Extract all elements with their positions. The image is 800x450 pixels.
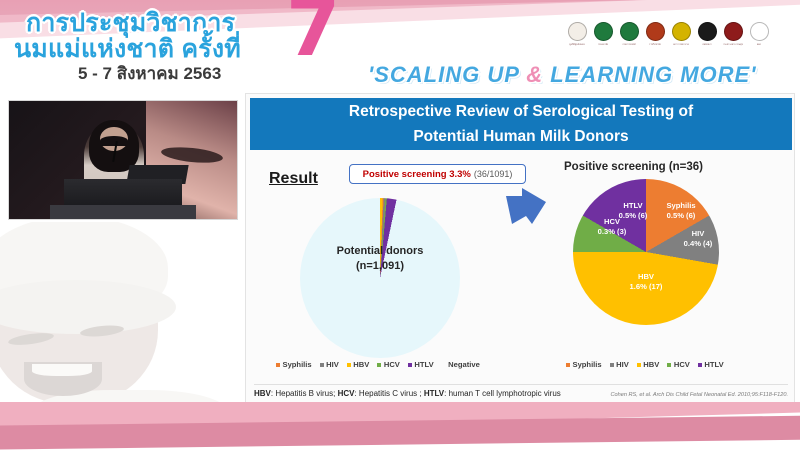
positive-screening-callout: Positive screening 3.3% (36/1091): [349, 164, 526, 184]
slice-label-syphilis-name: Syphilis: [654, 201, 708, 211]
legend-swatch-hcv: [667, 363, 671, 367]
legend-swatch-htlv: [408, 363, 412, 367]
logo-royal-emblem: สภาการพยาบาล: [670, 22, 692, 48]
legend-swatch-hiv: [610, 363, 614, 367]
potential-donors-pie-chart: [300, 198, 460, 358]
potential-donors-legend: SyphilisHIVHBVHCVHTLVNegative: [276, 360, 480, 369]
legend-label-hcv: HCV: [674, 360, 690, 369]
result-heading: Result: [269, 170, 318, 188]
legend-item-hbv: HBV: [347, 360, 370, 369]
footer-banner: [0, 402, 800, 450]
legend-label-hbv: HBV: [353, 360, 369, 369]
conference-header-banner: การประชุมวิชาการ นมแม่แห่งชาติ ครั้งที่ …: [0, 0, 800, 95]
legend-item-hiv: HIV: [610, 360, 629, 369]
logo-thaihealth-sss-caption: สสส.: [757, 42, 762, 46]
logo-thai-breastfeeding-foundation: มูลนิธิศูนย์นมแม่: [566, 22, 588, 48]
sponsor-logo-row: มูลนิธิศูนย์นมแม่กรมอนามัยกรมการแพทย์ราช…: [566, 22, 770, 48]
slide-title-line2: Potential Human Milk Donors: [250, 124, 792, 149]
logo-royal-emblem-mark: [672, 22, 691, 41]
legend-item-hcv: HCV: [377, 360, 400, 369]
slice-label-htlv: HTLV 0.5% (6): [606, 201, 660, 220]
video-podium-base: [50, 205, 196, 219]
slide-screenshot: การประชุมวิชาการ นมแม่แห่งชาติ ครั้งที่ …: [0, 0, 800, 450]
slice-label-hiv-name: HIV: [674, 229, 722, 239]
slice-label-hbv-value: 1.6% (17): [618, 282, 674, 292]
legend-label-syphilis: Syphilis: [283, 360, 312, 369]
logo-black-circle-emblem: แพทยสภา: [696, 22, 718, 48]
slice-label-syphilis-value: 0.5% (6): [654, 211, 708, 221]
speaker-video-thumbnail[interactable]: [8, 100, 238, 220]
legend-item-htlv: HTLV: [408, 360, 434, 369]
logo-department-health-caption: กรมการแพทย์: [622, 42, 635, 46]
legend-item-syphilis: Syphilis: [276, 360, 312, 369]
logo-thaihealth-sss: สสส.: [748, 22, 770, 48]
citation-reference: Cohen RS, et al. Arch Dis Child Fetal Ne…: [610, 392, 788, 398]
slice-label-hbv-name: HBV: [618, 272, 674, 282]
conference-edition-number: 7: [286, 0, 340, 68]
logo-thaihealth-sss-mark: [750, 22, 769, 41]
conference-date: 5 - 7 สิงหาคม 2563: [78, 60, 221, 87]
legend-swatch-hbv: [347, 363, 351, 367]
potential-donors-label-line1: Potential donors: [300, 244, 460, 259]
legend-item-hbv: HBV: [637, 360, 660, 369]
logo-royal-college-caption: ราชวิทยาลัย: [649, 42, 661, 46]
presentation-slide: Retrospective Review of Serological Test…: [245, 93, 795, 404]
legend-item-htlv: HTLV: [698, 360, 724, 369]
logo-royal-college-mark: [646, 22, 665, 41]
logo-ministry-public-health-green: กรมอนามัย: [592, 22, 614, 48]
abbreviation-note: HBV: Hepatitis B virus; HCV: Hepatitis C…: [254, 389, 561, 398]
legend-swatch-negative: [442, 363, 446, 367]
legend-swatch-htlv: [698, 363, 702, 367]
logo-black-circle-emblem-caption: แพทยสภา: [702, 42, 712, 46]
logo-thai-breastfeeding-foundation-caption: มูลนิธิศูนย์นมแม่: [569, 42, 585, 46]
legend-swatch-syphilis: [276, 363, 280, 367]
slice-label-hbv: HBV 1.6% (17): [618, 272, 674, 291]
legend-label-htlv: HTLV: [704, 360, 723, 369]
slice-label-htlv-value: 0.5% (6): [606, 211, 660, 221]
blue-down-right-arrow-icon: [504, 186, 548, 226]
legend-item-syphilis: Syphilis: [566, 360, 602, 369]
legend-item-hcv: HCV: [667, 360, 690, 369]
slice-label-syphilis: Syphilis 0.5% (6): [654, 201, 708, 220]
conference-tagline: 'SCALING UP & LEARNING MORE': [368, 62, 756, 88]
logo-royal-emblem-caption: สภาการพยาบาล: [673, 42, 689, 46]
legend-label-hiv: HIV: [326, 360, 339, 369]
logo-red-circle-emblem: กระทรวงสาธารณสุข: [722, 22, 744, 48]
legend-swatch-hbv: [637, 363, 641, 367]
slide-title: Retrospective Review of Serological Test…: [250, 98, 792, 150]
slice-label-hcv-value: 0.3% (3): [586, 227, 638, 237]
callout-detail: (36/1091): [474, 169, 513, 179]
tagline-part1: 'SCALING UP: [368, 62, 526, 87]
baby-teeth: [32, 364, 92, 376]
slide-footnote: HBV: Hepatitis B virus; HCV: Hepatitis C…: [254, 384, 788, 398]
logo-red-circle-emblem-mark: [724, 22, 743, 41]
logo-ministry-public-health-green-caption: กรมอนามัย: [598, 42, 609, 46]
legend-swatch-hcv: [377, 363, 381, 367]
logo-red-circle-emblem-caption: กระทรวงสาธารณสุข: [723, 42, 743, 46]
logo-department-health-mark: [620, 22, 639, 41]
logo-thai-breastfeeding-foundation-mark: [568, 22, 587, 41]
legend-label-hcv: HCV: [384, 360, 400, 369]
callout-highlight: Positive screening 3.3%: [363, 169, 471, 180]
slice-label-hiv: HIV 0.4% (4): [674, 229, 722, 248]
logo-ministry-public-health-green-mark: [594, 22, 613, 41]
legend-label-hiv: HIV: [616, 360, 629, 369]
smiling-baby-watermark-photo: [0, 222, 244, 428]
potential-donors-center-label: Potential donors (n=1,091): [300, 244, 460, 274]
legend-label-htlv: HTLV: [414, 360, 433, 369]
logo-black-circle-emblem-mark: [698, 22, 717, 41]
legend-label-syphilis: Syphilis: [573, 360, 602, 369]
logo-department-health: กรมการแพทย์: [618, 22, 640, 48]
positive-screening-legend: SyphilisHIVHBVHCVHTLV: [566, 360, 724, 369]
slide-title-line1: Retrospective Review of Serological Test…: [250, 99, 792, 124]
legend-label-hbv: HBV: [643, 360, 659, 369]
legend-item-negative: Negative: [442, 360, 480, 369]
tagline-part2: LEARNING MORE': [543, 62, 756, 87]
slice-label-hiv-value: 0.4% (4): [674, 239, 722, 249]
logo-royal-college: ราชวิทยาลัย: [644, 22, 666, 48]
legend-item-hiv: HIV: [320, 360, 339, 369]
potential-donors-label-line2: (n=1,091): [300, 259, 460, 274]
legend-swatch-hiv: [320, 363, 324, 367]
slice-label-htlv-name: HTLV: [606, 201, 660, 211]
positive-screening-pie-title: Positive screening (n=36): [564, 161, 703, 173]
video-speaker-fringe: [100, 136, 127, 145]
tagline-ampersand: &: [526, 62, 543, 87]
legend-label-negative: Negative: [448, 360, 480, 369]
legend-swatch-syphilis: [566, 363, 570, 367]
